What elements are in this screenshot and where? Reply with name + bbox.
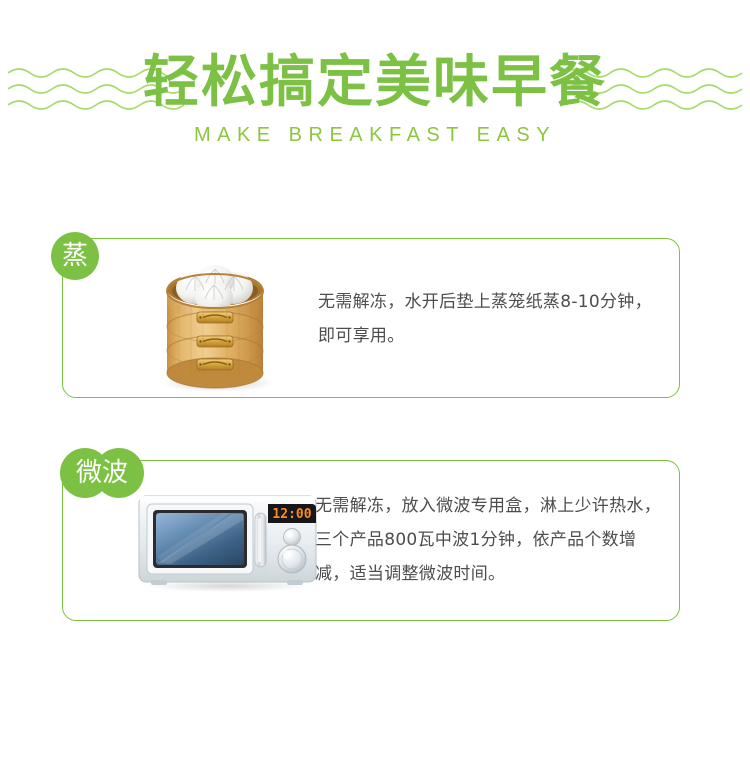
instruction-text-steam: 无需解冻，水开后垫上蒸笼纸蒸8-10分钟，即可享用。 — [318, 285, 658, 353]
bamboo-steamer-icon — [146, 255, 286, 395]
microwave-display-value: 12:00 — [272, 507, 311, 522]
page-header: 轻松搞定美味早餐 MAKE BREAKFAST EASY — [0, 0, 750, 175]
microwave-oven-icon: 12:00 — [135, 487, 320, 592]
badge-microwave: 微波 — [60, 448, 144, 498]
instruction-text-microwave: 无需解冻，放入微波专用盒，淋上少许热水，三个产品800瓦中波1分钟，依产品个数增… — [315, 489, 665, 591]
page-title: 轻松搞定美味早餐 — [0, 52, 750, 114]
badge-microwave-label: 微波 — [76, 460, 128, 486]
badge-steam: 蒸 — [51, 232, 99, 280]
page-subtitle: MAKE BREAKFAST EASY — [0, 124, 750, 147]
badge-steam-label: 蒸 — [62, 243, 88, 269]
